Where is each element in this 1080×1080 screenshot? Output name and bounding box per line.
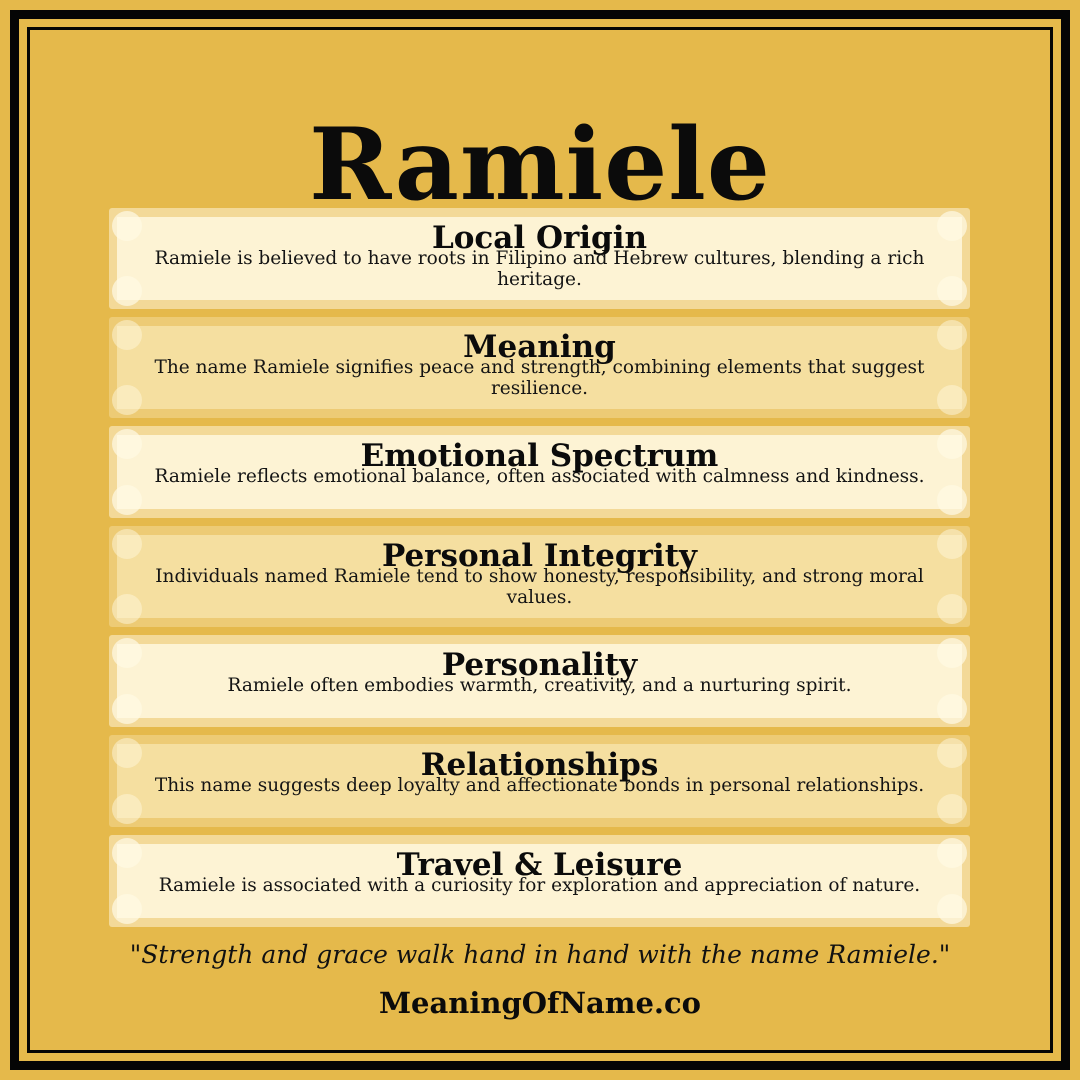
card-panel: Personal Integrity Individuals named Ram…	[117, 535, 962, 618]
info-card-personality: Personality Ramiele often embodies warmt…	[109, 635, 970, 727]
card-title: Emotional Spectrum	[143, 441, 936, 471]
poster-content: Ramiele Local Origin Ramiele is believe	[30, 30, 1050, 1050]
card-title: Personality	[143, 650, 936, 680]
info-card-local-origin: Local Origin Ramiele is believed to have…	[109, 208, 970, 309]
card-panel: Emotional Spectrum Ramiele reflects emot…	[117, 435, 962, 509]
footer-brand: MeaningOfName.co	[109, 986, 971, 1020]
footer-quote: "Strength and grace walk hand in hand wi…	[109, 940, 971, 970]
card-panel: Travel & Leisure Ramiele is associated w…	[117, 844, 962, 918]
card-title: Personal Integrity	[143, 541, 936, 571]
info-card-emotional-spectrum: Emotional Spectrum Ramiele reflects emot…	[109, 426, 970, 518]
frame-inner-border: Ramiele Local Origin Ramiele is believe	[27, 27, 1053, 1053]
info-card-meaning: Meaning The name Ramiele signifies peace…	[109, 317, 970, 418]
card-title: Local Origin	[143, 223, 936, 253]
card-panel: Relationships This name suggests deep lo…	[117, 744, 962, 818]
card-panel: Personality Ramiele often embodies warmt…	[117, 644, 962, 718]
card-title: Relationships	[143, 750, 936, 780]
info-card-travel-leisure: Travel & Leisure Ramiele is associated w…	[109, 835, 970, 927]
frame-outer-border: Ramiele Local Origin Ramiele is believe	[10, 10, 1070, 1070]
poster: Ramiele Local Origin Ramiele is believe	[0, 0, 1080, 1080]
info-card-relationships: Relationships This name suggests deep lo…	[109, 735, 970, 827]
footer: "Strength and grace walk hand in hand wi…	[109, 940, 971, 1020]
card-list: Local Origin Ramiele is believed to have…	[109, 208, 970, 935]
card-title: Travel & Leisure	[143, 850, 936, 880]
info-card-personal-integrity: Personal Integrity Individuals named Ram…	[109, 526, 970, 627]
card-title: Meaning	[143, 332, 936, 362]
card-panel: Meaning The name Ramiele signifies peace…	[117, 326, 962, 409]
frame-gap: Ramiele Local Origin Ramiele is believe	[19, 19, 1061, 1061]
card-panel: Local Origin Ramiele is believed to have…	[117, 217, 962, 300]
page-title: Ramiele	[30, 114, 1050, 218]
